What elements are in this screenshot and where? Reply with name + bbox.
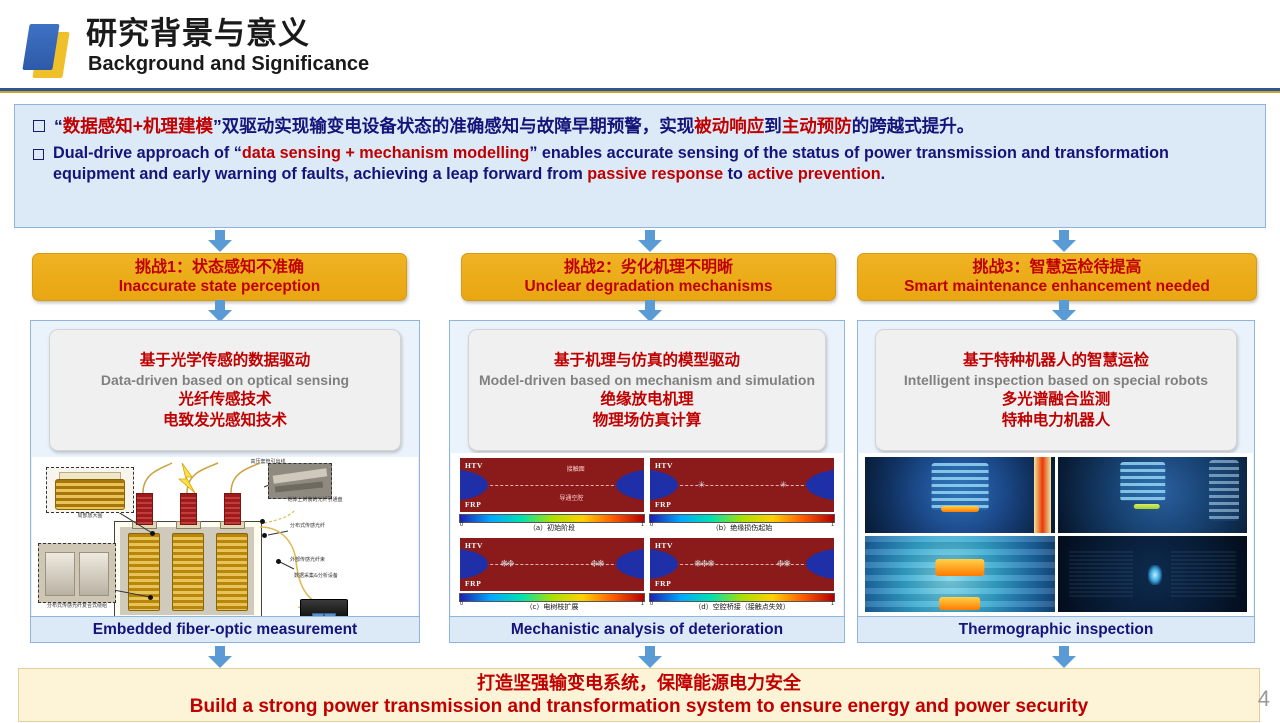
electrical-tree-right: ❉❋ bbox=[590, 559, 603, 570]
fiber-node-4 bbox=[262, 533, 267, 538]
ir-hotspot-1 bbox=[941, 506, 979, 513]
region-label-htv-c: HTV bbox=[465, 541, 483, 550]
bottom-banner: 打造坚强输变电系统，保障能源电力安全 Build a strong power … bbox=[18, 668, 1260, 722]
uv-noise-left bbox=[1069, 550, 1133, 597]
inset-coil-stack bbox=[55, 479, 125, 510]
bullet-square-icon-2 bbox=[33, 149, 44, 160]
zh-highlight-2: 被动响应 bbox=[694, 116, 764, 136]
colorbar-a-max: 1 bbox=[641, 522, 644, 528]
slide-root: 研究背景与意义 Background and Significance “数据感… bbox=[0, 0, 1280, 723]
sim-image-a: HTV FRP 接触面 导通空腔 bbox=[459, 457, 645, 513]
caption-column-1: Embedded fiber-optic measurement bbox=[31, 616, 419, 642]
statement-box: “数据感知+机理建模”双驱动实现输变电设备状态的准确感知与故障早期预警，实现被动… bbox=[14, 104, 1266, 228]
region-label-frp-a: FRP bbox=[465, 500, 481, 509]
en-highlight-1: data sensing + mechanism modelling bbox=[242, 144, 529, 162]
ir-bushing bbox=[1120, 462, 1165, 502]
sim-image-c: ❋❉ ❉❋ HTV FRP bbox=[459, 537, 645, 593]
label-fiber-leadthrough: 铠体上封装的光纤引通盘 bbox=[272, 497, 358, 504]
challenge-3-title-en: Smart maintenance enhancement needed bbox=[904, 277, 1210, 296]
figure-infrared-thermography bbox=[859, 453, 1253, 616]
challenge-2-title-en: Unclear degradation mechanisms bbox=[524, 277, 772, 296]
statement-en-text: Dual-drive approach of “data sensing + m… bbox=[53, 143, 1251, 185]
arrow-down-to-column-2 bbox=[638, 300, 662, 322]
ir-hotspot-2 bbox=[1133, 504, 1160, 509]
card-1-title-en: Data-driven based on optical sensing bbox=[101, 371, 349, 389]
arrow-down-to-column-1 bbox=[208, 300, 232, 322]
figure-discharge-simulation: HTV FRP 接触面 导通空腔 0 1 （a）初始阶段 bbox=[451, 453, 843, 616]
void-right bbox=[616, 469, 645, 501]
sim-panel-a: HTV FRP 接触面 导通空腔 0 1 （a）初始阶段 bbox=[459, 457, 645, 533]
en-seg-4: . bbox=[881, 165, 886, 183]
ir-panel-substation-bushing bbox=[1058, 457, 1248, 533]
statement-en-row: Dual-drive approach of “data sensing + m… bbox=[29, 143, 1251, 185]
arrow-down-to-banner-3 bbox=[1052, 646, 1076, 668]
arrow-down-to-column-3 bbox=[1052, 300, 1076, 322]
figure-dofs-transformer: 高压套管引出线 bbox=[32, 457, 418, 616]
statement-zh-text: “数据感知+机理建模”双驱动实现输变电设备状态的准确感知与故障早期预警，实现被动… bbox=[54, 113, 974, 139]
photo-winding-2 bbox=[79, 552, 109, 596]
column-optical-sensing: 基于光学传感的数据驱动 Data-driven based on optical… bbox=[30, 320, 420, 643]
uv-noise-right bbox=[1171, 550, 1235, 597]
fiber-node-5 bbox=[276, 559, 281, 564]
sim-image-d: ❋❉❋ ❉❋ HTV FRP bbox=[649, 537, 835, 593]
arrow-head bbox=[638, 656, 662, 668]
label-partial-discharge-zoom: 局部放大图 bbox=[50, 513, 130, 520]
caption-column-2: Mechanistic analysis of deterioration bbox=[450, 616, 844, 642]
simulation-panel-grid: HTV FRP 接触面 导通空腔 0 1 （a）初始阶段 bbox=[459, 457, 835, 612]
card-2-item-1: 绝缘放电机理 bbox=[600, 389, 693, 410]
column-mechanism-simulation: 基于机理与仿真的模型驱动 Model-driven based on mecha… bbox=[449, 320, 845, 643]
colorbar-a-min: 0 bbox=[460, 522, 463, 528]
ir-scale-strip bbox=[1034, 457, 1051, 533]
void-right bbox=[806, 548, 835, 580]
card-1-item-1: 光纤传感技术 bbox=[178, 389, 271, 410]
bridged-channel-left: ❋❉❋ bbox=[694, 559, 714, 570]
label-fiber-winding: 分布式传感光纤复合式绕组 bbox=[36, 603, 118, 610]
colorbar-c: 0 1 bbox=[459, 593, 645, 602]
tree-seed-left: ✳ bbox=[698, 479, 705, 490]
arrow-down-to-challenge-3 bbox=[1052, 230, 1076, 252]
colorbar-d: 0 1 bbox=[649, 593, 835, 602]
ir-panel-insulator-closeup bbox=[865, 536, 1055, 612]
zh-highlight-3: 主动预防 bbox=[782, 116, 852, 136]
header-divider-gold bbox=[0, 91, 1280, 93]
page-number: 4 bbox=[1258, 686, 1270, 712]
colorbar-a: 0 1 bbox=[459, 514, 645, 523]
colorbar-c-min: 0 bbox=[460, 601, 463, 607]
tree-seed-right: ✳ bbox=[780, 479, 787, 490]
colorbar-b: 0 1 bbox=[649, 514, 835, 523]
page-title-en: Background and Significance bbox=[88, 54, 369, 74]
annotation-conducting-void: 导通空腔 bbox=[559, 493, 583, 502]
card-robotic-inspection: 基于特种机器人的智慧运检 Intelligent inspection base… bbox=[875, 329, 1237, 451]
region-label-frp-c: FRP bbox=[465, 579, 481, 588]
label-acquisition-equipment: 数据采集&分析设备 bbox=[294, 573, 370, 580]
ir-panel-grid bbox=[865, 457, 1247, 612]
ir-panel-uv-corona bbox=[1058, 536, 1248, 612]
page-title-zh: 研究背景与意义 bbox=[86, 18, 310, 49]
zh-seg-1: “ bbox=[54, 116, 63, 136]
sim-panel-c: ❋❉ ❉❋ HTV FRP 0 1 （c）电树枝扩展 bbox=[459, 537, 645, 613]
arrow-head bbox=[208, 656, 232, 668]
void-left bbox=[649, 548, 678, 580]
region-label-htv-d: HTV bbox=[655, 541, 673, 550]
zh-seg-4: 的跨越式提升。 bbox=[852, 116, 975, 136]
sim-caption-b: （b）绝缘损伤起始 bbox=[649, 523, 835, 533]
arrow-head bbox=[1052, 240, 1076, 252]
uv-corona-spot bbox=[1148, 565, 1161, 585]
card-mechanism-simulation: 基于机理与仿真的模型驱动 Model-driven based on mecha… bbox=[468, 329, 826, 451]
inset-fiber-winding-photo bbox=[38, 543, 116, 603]
sim-panel-b: ✳ ✳ HTV FRP 0 1 （b）绝缘损伤起始 bbox=[649, 457, 835, 533]
bullet-square-icon bbox=[33, 120, 45, 132]
card-3-item-2: 特种电力机器人 bbox=[1002, 410, 1111, 431]
challenge-1-title-zh: 挑战1：状态感知不准确 bbox=[135, 258, 304, 277]
ir-insulator-string bbox=[931, 463, 988, 510]
zh-seg-3: 到 bbox=[764, 116, 782, 136]
bridged-channel-right: ❉❋ bbox=[777, 559, 790, 570]
electrical-tree-left: ❋❉ bbox=[500, 559, 513, 570]
label-distributed-fiber: 分布式传感光纤 bbox=[290, 523, 370, 530]
photo-winding-1 bbox=[45, 552, 75, 596]
card-optical-sensing: 基于光学传感的数据驱动 Data-driven based on optical… bbox=[49, 329, 401, 451]
statement-zh-row: “数据感知+机理建模”双驱动实现输变电设备状态的准确感知与故障早期预警，实现被动… bbox=[29, 113, 1251, 139]
en-seg-3: to bbox=[723, 165, 747, 183]
arrow-down-to-challenge-1 bbox=[208, 230, 232, 252]
card-3-item-1: 多光谱融合监测 bbox=[1002, 389, 1111, 410]
company-logo bbox=[22, 20, 82, 78]
colorbar-b-max: 1 bbox=[831, 522, 834, 528]
ir-bellows bbox=[1209, 460, 1239, 521]
fiber-node-1 bbox=[150, 531, 155, 536]
sim-caption-a: （a）初始阶段 bbox=[459, 523, 645, 533]
annotation-contact-surface: 接触面 bbox=[567, 464, 585, 473]
colorbar-c-max: 1 bbox=[641, 601, 644, 607]
fiber-node-2 bbox=[148, 595, 153, 600]
card-3-title-en: Intelligent inspection based on special … bbox=[904, 371, 1208, 389]
slide-header: 研究背景与意义 Background and Significance bbox=[0, 0, 1280, 90]
void-right bbox=[616, 548, 645, 580]
region-label-htv-b: HTV bbox=[655, 461, 673, 470]
sim-caption-d: （d）空腔桥接（接触点失效） bbox=[649, 602, 835, 612]
card-1-title-zh: 基于光学传感的数据驱动 bbox=[140, 350, 311, 371]
card-2-item-2: 物理场仿真计算 bbox=[593, 410, 702, 431]
zh-highlight-1: 数据感知+机理建模 bbox=[63, 116, 213, 136]
bottom-banner-zh: 打造坚强输变电系统，保障能源电力安全 bbox=[477, 672, 801, 695]
en-highlight-3: active prevention bbox=[747, 165, 880, 183]
card-2-title-zh: 基于机理与仿真的模型驱动 bbox=[554, 350, 740, 371]
arrow-head bbox=[208, 240, 232, 252]
ir-hotspot-4 bbox=[939, 597, 981, 611]
inset-partial-discharge-zoom bbox=[46, 467, 134, 513]
arrow-head bbox=[638, 240, 662, 252]
inset-fiber-leadthrough-photo bbox=[268, 463, 332, 499]
arrow-down-to-challenge-2 bbox=[638, 230, 662, 252]
card-3-title-zh: 基于特种机器人的智慧运检 bbox=[963, 350, 1149, 371]
challenge-banner-2[interactable]: 挑战2：劣化机理不明晰 Unclear degradation mechanis… bbox=[461, 253, 836, 301]
challenge-banner-3[interactable]: 挑战3：智慧运检待提高 Smart maintenance enhancemen… bbox=[857, 253, 1257, 301]
en-seg-1: Dual-drive approach of “ bbox=[53, 144, 242, 162]
bottom-banner-en: Build a strong power transmission and tr… bbox=[190, 695, 1088, 719]
arrow-down-to-banner-1 bbox=[208, 646, 232, 668]
sim-panel-d: ❋❉❋ ❉❋ HTV FRP 0 1 （d）空腔桥接（接触点失效） bbox=[649, 537, 835, 613]
arrow-head bbox=[1052, 656, 1076, 668]
card-2-title-en: Model-driven based on mechanism and simu… bbox=[479, 371, 815, 389]
challenge-1-title-en: Inaccurate state perception bbox=[119, 277, 321, 296]
caption-column-3: Thermographic inspection bbox=[858, 616, 1254, 642]
label-external-fiber-bundle: 外部传感光纤束 bbox=[290, 557, 370, 564]
void-left bbox=[459, 548, 488, 580]
region-label-frp-d: FRP bbox=[655, 579, 671, 588]
sim-image-b: ✳ ✳ HTV FRP bbox=[649, 457, 835, 513]
region-label-htv-a: HTV bbox=[465, 461, 483, 470]
region-label-frp-b: FRP bbox=[655, 500, 671, 509]
en-highlight-2: passive response bbox=[587, 165, 723, 183]
fiber-node-3 bbox=[260, 519, 265, 524]
challenge-3-title-zh: 挑战3：智慧运检待提高 bbox=[973, 258, 1142, 277]
void-right bbox=[806, 469, 835, 501]
ir-panel-insulator-string bbox=[865, 457, 1055, 533]
void-left bbox=[649, 469, 678, 501]
arrow-down-to-banner-2 bbox=[638, 646, 662, 668]
dofs-diagram-canvas: 高压套管引出线 bbox=[32, 457, 418, 616]
colorbar-d-min: 0 bbox=[650, 601, 653, 607]
card-1-item-2: 电致发光感知技术 bbox=[163, 410, 287, 431]
void-left bbox=[459, 469, 488, 501]
challenge-banner-1[interactable]: 挑战1：状态感知不准确 Inaccurate state perception bbox=[32, 253, 407, 301]
photo-fiber-strand-2 bbox=[275, 482, 323, 493]
column-robotic-inspection: 基于特种机器人的智慧运检 Intelligent inspection base… bbox=[857, 320, 1255, 643]
sim-caption-c: （c）电树枝扩展 bbox=[459, 602, 645, 612]
challenge-2-title-zh: 挑战2：劣化机理不明晰 bbox=[564, 258, 733, 277]
colorbar-b-min: 0 bbox=[650, 522, 653, 528]
colorbar-d-max: 1 bbox=[831, 601, 834, 607]
zh-seg-2: ”双驱动实现输变电设备状态的准确感知与故障早期预警，实现 bbox=[213, 116, 694, 136]
ir-hotspot-3 bbox=[935, 559, 984, 576]
